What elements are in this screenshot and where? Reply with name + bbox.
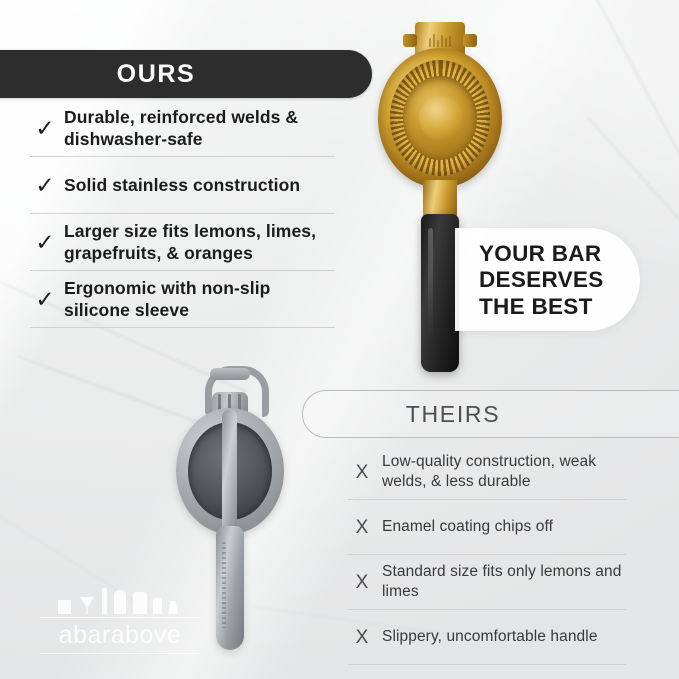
theirs-list-item: X Standard size fits only lemons and lim…	[348, 555, 626, 610]
theirs-feature-list: X Low-quality construction, weak welds, …	[348, 445, 626, 665]
logo-divider-bottom	[40, 653, 200, 655]
barware-silhouettes-icon	[54, 588, 186, 614]
check-icon: ✓	[30, 231, 60, 254]
callout-text: YOUR BAR DESERVES THE BEST	[479, 241, 604, 320]
hinge-pin-left	[403, 34, 417, 47]
ours-feature-list: ✓ Durable, reinforced welds & dishwasher…	[30, 100, 335, 328]
ours-list-item-label: Durable, reinforced welds & dishwasher-s…	[60, 106, 335, 150]
ours-list-item-label: Larger size fits lemons, limes, grapefru…	[60, 220, 335, 264]
brand-logo: abarabove	[40, 588, 200, 654]
logo-wordmark: abarabove	[40, 623, 200, 648]
cross-icon: X	[348, 573, 376, 592]
ours-list-item: ✓ Larger size fits lemons, limes, grapef…	[30, 214, 335, 271]
handle-texture	[222, 542, 226, 628]
callout-badge: YOUR BAR DESERVES THE BEST	[455, 228, 640, 331]
callout-line-3: THE BEST	[479, 294, 604, 320]
ours-list-item: ✓ Ergonomic with non-slip silicone sleev…	[30, 271, 335, 328]
ours-header-pill: OURS	[0, 50, 372, 98]
theirs-list-item: X Slippery, uncomfortable handle	[348, 610, 626, 665]
squeezer-handle	[216, 526, 244, 650]
theirs-header-pill: THEIRS	[302, 390, 679, 438]
ours-list-item: ✓ Durable, reinforced welds & dishwasher…	[30, 100, 335, 157]
check-icon: ✓	[30, 117, 60, 140]
theirs-list-item-label: Standard size fits only lemons and limes	[376, 562, 626, 602]
squeezer-loop-cap	[210, 368, 250, 380]
comparison-infographic: OURS ✓ Durable, reinforced welds & dishw…	[0, 0, 679, 679]
theirs-list-item: X Enamel coating chips off	[348, 500, 626, 555]
theirs-list-item: X Low-quality construction, weak welds, …	[348, 445, 626, 500]
callout-line-1: YOUR BAR	[479, 241, 604, 267]
check-icon: ✓	[30, 288, 60, 311]
cross-icon: X	[348, 463, 376, 482]
sleeve-highlight	[428, 228, 433, 338]
ours-list-item-label: Ergonomic with non-slip silicone sleeve	[60, 277, 335, 321]
logo-divider-top	[40, 617, 200, 619]
theirs-header-label: THEIRS	[406, 401, 501, 428]
ours-list-item-label: Solid stainless construction	[60, 174, 335, 196]
squeezer-lever-arm	[222, 410, 237, 538]
cross-icon: X	[348, 518, 376, 537]
theirs-list-item-label: Low-quality construction, weak welds, & …	[376, 452, 626, 492]
ours-list-item: ✓ Solid stainless construction	[30, 157, 335, 214]
squeezer-silicone-sleeve	[421, 214, 459, 372]
ours-header-label: OURS	[117, 60, 196, 89]
cross-icon: X	[348, 628, 376, 647]
theirs-list-item-label: Slippery, uncomfortable handle	[376, 627, 626, 647]
check-icon: ✓	[30, 174, 60, 197]
callout-line-2: DESERVES	[479, 267, 604, 293]
hinge-pin-right	[463, 34, 477, 47]
squeezer-dome	[419, 96, 463, 140]
theirs-list-item-label: Enamel coating chips off	[376, 517, 626, 537]
